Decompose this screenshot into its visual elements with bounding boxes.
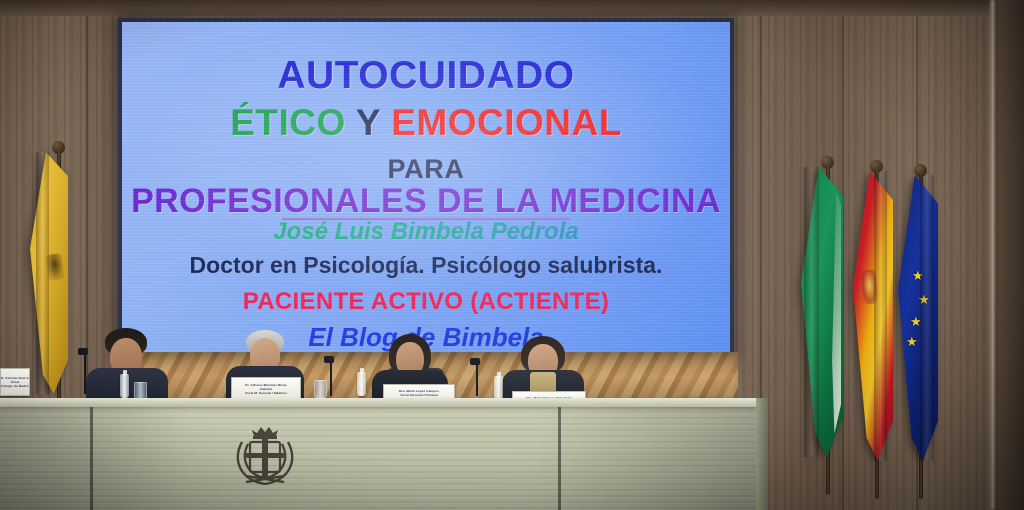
nameplate-line: Vocal M. General / Médicos xyxy=(232,391,300,395)
slide-speaker-name: José Luis Bimbela Pedrola xyxy=(122,218,730,246)
nameplate-line: Colegio de Médicos xyxy=(1,384,29,388)
gold-flag-emblem xyxy=(46,253,65,281)
slide-audience-line: PROFESIONALES DE LA MEDICINA xyxy=(122,182,730,221)
ceiling-shadow xyxy=(0,0,1024,16)
eu-star: ★ xyxy=(906,335,918,348)
spain-flag xyxy=(853,171,893,461)
desk-panel-seam xyxy=(90,407,93,510)
slide-topic-line: PACIENTE ACTIVO (ACTIENTE) xyxy=(122,288,730,316)
water-bottle xyxy=(357,372,366,396)
slide-subtitle-conjunction: Y xyxy=(356,102,381,143)
door-frame xyxy=(990,0,1024,510)
desk-top-edge xyxy=(0,398,766,407)
desk-right-edge xyxy=(756,398,768,510)
microphone-arm xyxy=(330,360,332,396)
door-light-strip xyxy=(989,0,994,510)
microphone xyxy=(324,356,334,363)
desk-panel-seam xyxy=(558,407,561,510)
medical-college-crest xyxy=(228,420,302,490)
slide-subtitle-etico: ÉTICO xyxy=(230,102,346,143)
nameplate-0: D. Antonio Ruiz Gómez Vocal Colegio de M… xyxy=(0,368,30,396)
slide-title: AUTOCUIDADO xyxy=(122,54,730,98)
institutional-gold-flag xyxy=(30,152,68,394)
presentation-slide: AUTOCUIDADO ÉTICO Y EMOCIONAL PARA PROFE… xyxy=(122,22,730,354)
slide-speaker-credentials: Doctor en Psicología. Psicólogo salubris… xyxy=(122,252,730,279)
slide-para-word: PARA xyxy=(122,154,730,185)
andalusia-flag xyxy=(801,167,843,457)
desk-shading xyxy=(0,398,766,510)
panel-desk xyxy=(0,398,766,510)
microphone-arm xyxy=(476,362,478,396)
slide-subtitle: ÉTICO Y EMOCIONAL xyxy=(122,102,730,144)
conference-hall-photo: AUTOCUIDADO ÉTICO Y EMOCIONAL PARA PROFE… xyxy=(0,0,1024,510)
water-bottle xyxy=(494,376,503,400)
microphone xyxy=(78,348,88,355)
microphone-arm xyxy=(84,352,86,394)
slide-subtitle-emocional: EMOCIONAL xyxy=(391,102,622,143)
projection-screen: AUTOCUIDADO ÉTICO Y EMOCIONAL PARA PROFE… xyxy=(122,22,730,354)
water-glass xyxy=(314,380,327,398)
water-bottle xyxy=(120,374,129,398)
european-union-flag: ★ ★ ★ ★ xyxy=(898,175,938,461)
microphone xyxy=(470,358,480,365)
